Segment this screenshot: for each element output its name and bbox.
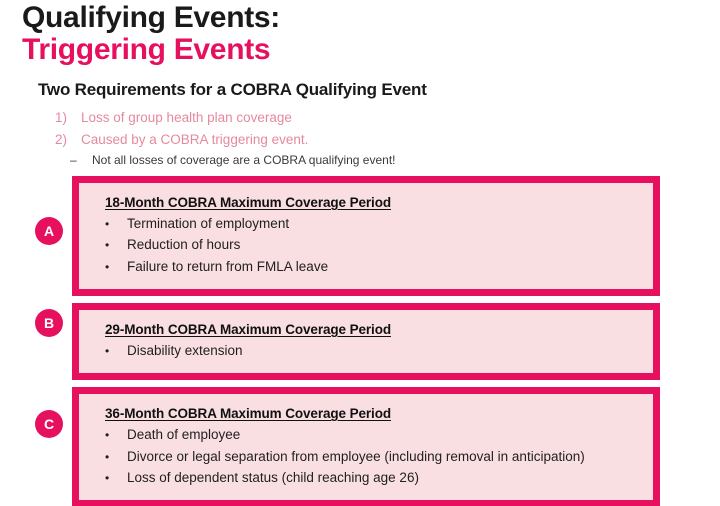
bullet-icon: • xyxy=(105,469,127,488)
list-item: • Failure to return from FMLA leave xyxy=(105,256,653,277)
bullet-icon: • xyxy=(105,448,127,467)
list-item: • Divorce or legal separation from emplo… xyxy=(105,446,653,467)
title-line-primary: Qualifying Events: xyxy=(22,2,280,34)
bullet-icon: • xyxy=(105,236,127,255)
coverage-box-b-bullets: • Disability extension xyxy=(105,340,653,361)
list-item-label: Divorce or legal separation from employe… xyxy=(127,446,653,467)
badge-c: C xyxy=(35,410,63,438)
list-item-marker: 1) xyxy=(55,107,81,129)
list-item-label: Loss of dependent status (child reaching… xyxy=(127,467,653,488)
list-item-label: Disability extension xyxy=(127,340,653,361)
list-item-label: Termination of employment xyxy=(127,213,653,234)
requirements-list: 1) Loss of group health plan coverage 2)… xyxy=(55,107,655,170)
badge-b: B xyxy=(35,309,63,337)
coverage-box-c: 36-Month COBRA Maximum Coverage Period •… xyxy=(72,387,660,506)
coverage-period-boxes: 18-Month COBRA Maximum Coverage Period •… xyxy=(72,176,660,506)
list-item: • Loss of dependent status (child reachi… xyxy=(105,467,653,488)
slide-canvas: Qualifying Events: Triggering Events Two… xyxy=(0,0,720,506)
coverage-box-b-heading: 29-Month COBRA Maximum Coverage Period xyxy=(105,322,653,337)
list-item-marker: 2) xyxy=(55,129,81,151)
list-item: • Disability extension xyxy=(105,340,653,361)
coverage-box-a-heading: 18-Month COBRA Maximum Coverage Period xyxy=(105,195,653,210)
badge-a: A xyxy=(35,217,63,245)
list-item-label: Failure to return from FMLA leave xyxy=(127,256,653,277)
list-item-label: Loss of group health plan coverage xyxy=(81,107,655,129)
sub-note: – Not all losses of coverage are a COBRA… xyxy=(70,151,655,170)
dash-icon: – xyxy=(70,151,92,170)
list-item-label: Reduction of hours xyxy=(127,234,653,255)
coverage-box-a-bullets: • Termination of employment • Reduction … xyxy=(105,213,653,277)
bullet-icon: • xyxy=(105,215,127,234)
coverage-box-c-heading: 36-Month COBRA Maximum Coverage Period xyxy=(105,406,653,421)
list-item: • Termination of employment xyxy=(105,213,653,234)
list-item: • Reduction of hours xyxy=(105,234,653,255)
sub-note-label: Not all losses of coverage are a COBRA q… xyxy=(92,151,655,170)
list-item-label: Caused by a COBRA triggering event. xyxy=(81,129,655,151)
coverage-box-a: 18-Month COBRA Maximum Coverage Period •… xyxy=(72,176,660,296)
coverage-box-b: 29-Month COBRA Maximum Coverage Period •… xyxy=(72,303,660,380)
bullet-icon: • xyxy=(105,342,127,361)
list-item: 1) Loss of group health plan coverage xyxy=(55,107,655,129)
requirements-heading: Two Requirements for a COBRA Qualifying … xyxy=(38,80,427,100)
page-title: Qualifying Events: Triggering Events xyxy=(22,2,280,67)
title-line-secondary: Triggering Events xyxy=(22,34,280,66)
coverage-box-c-inner: 36-Month COBRA Maximum Coverage Period •… xyxy=(79,394,653,500)
coverage-box-c-bullets: • Death of employee • Divorce or legal s… xyxy=(105,424,653,488)
coverage-box-b-inner: 29-Month COBRA Maximum Coverage Period •… xyxy=(79,310,653,373)
bullet-icon: • xyxy=(105,258,127,277)
coverage-box-a-inner: 18-Month COBRA Maximum Coverage Period •… xyxy=(79,183,653,289)
list-item-label: Death of employee xyxy=(127,424,653,445)
list-item: 2) Caused by a COBRA triggering event. xyxy=(55,129,655,151)
list-item: • Death of employee xyxy=(105,424,653,445)
bullet-icon: • xyxy=(105,426,127,445)
